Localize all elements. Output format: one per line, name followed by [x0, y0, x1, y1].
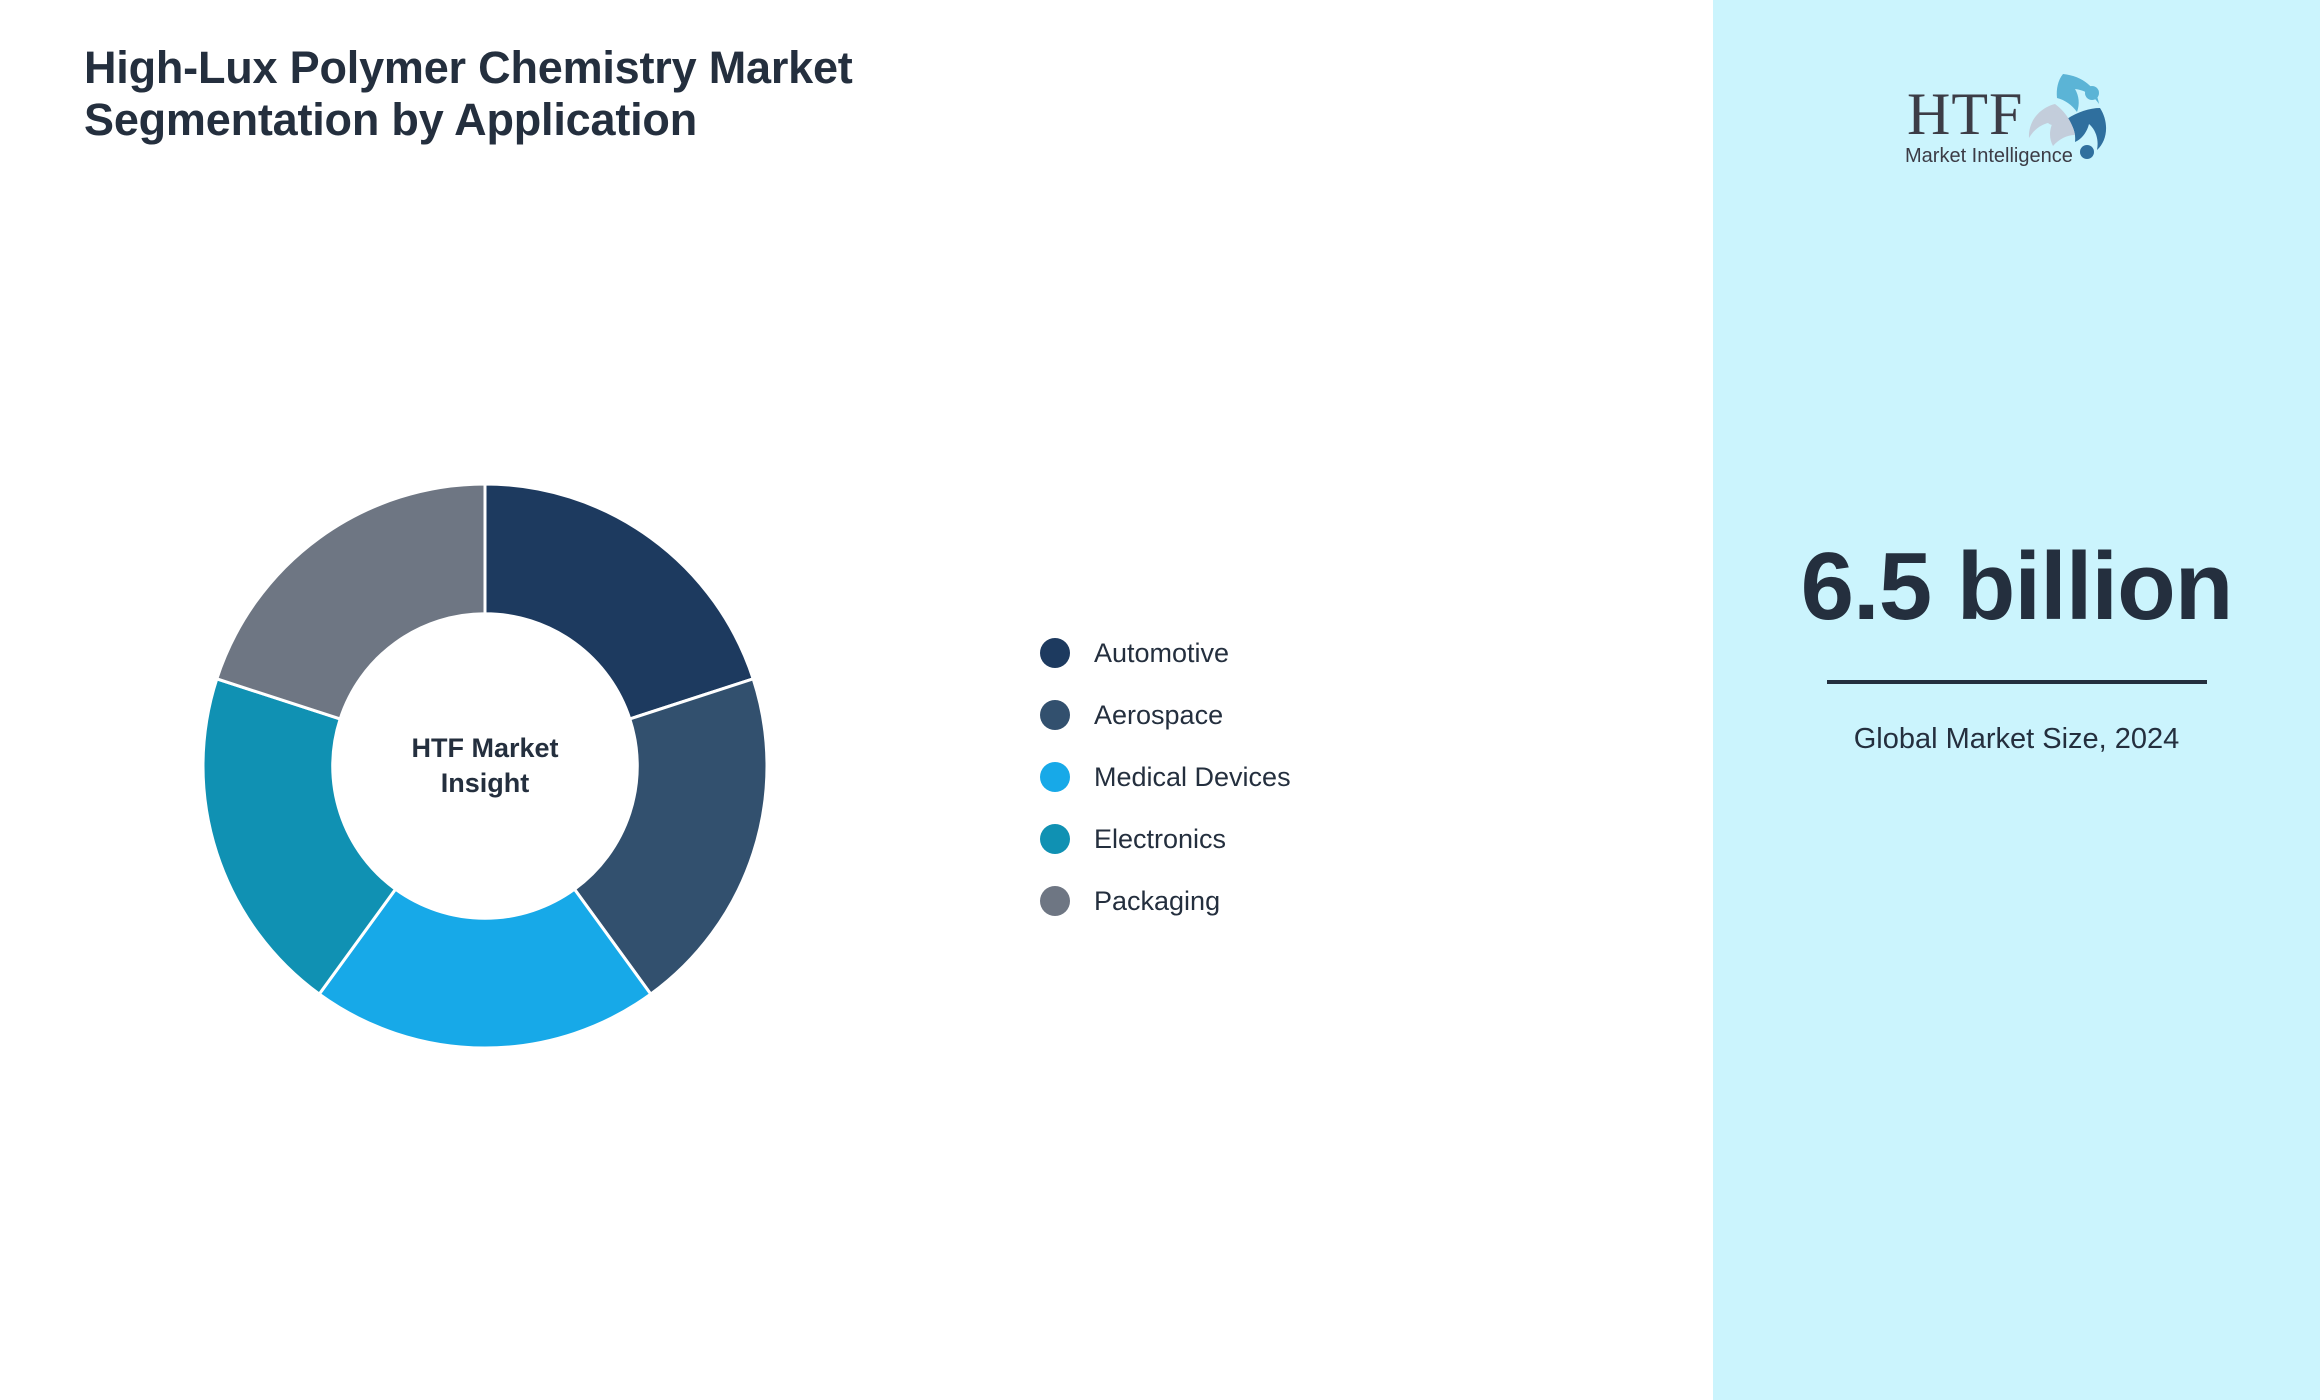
legend-swatch-icon	[1040, 700, 1070, 730]
legend-item[interactable]: Packaging	[1040, 870, 1291, 932]
htf-logo-svg: HTF Market Intelligence	[1887, 62, 2147, 172]
legend-item-label: Electronics	[1094, 824, 1226, 855]
legend-item-label: Packaging	[1094, 886, 1220, 917]
legend-item[interactable]: Electronics	[1040, 808, 1291, 870]
legend-swatch-icon	[1040, 886, 1070, 916]
htf-wordmark: HTF	[1907, 81, 2023, 147]
stat-value: 6.5 billion	[1777, 536, 2257, 638]
legend-item-label: Medical Devices	[1094, 762, 1291, 793]
htf-tagline: Market Intelligence	[1905, 145, 2073, 167]
legend-item[interactable]: Automotive	[1040, 622, 1291, 684]
legend-swatch-icon	[1040, 638, 1070, 668]
htf-logo: HTF Market Intelligence	[1887, 62, 2147, 172]
donut-chart-svg	[203, 484, 767, 1048]
donut-segment-packaging[interactable]	[217, 484, 485, 719]
donut-segment-group	[203, 484, 767, 1048]
stat-divider	[1827, 680, 2207, 684]
infographic-root: High-Lux Polymer Chemistry Market Segmen…	[0, 0, 2320, 1400]
legend-swatch-icon	[1040, 762, 1070, 792]
legend-swatch-icon	[1040, 824, 1070, 854]
stat-caption: Global Market Size, 2024	[1777, 720, 2257, 758]
legend-item[interactable]: Medical Devices	[1040, 746, 1291, 808]
legend-item-label: Automotive	[1094, 638, 1229, 669]
legend-item[interactable]: Aerospace	[1040, 684, 1291, 746]
stat-panel: HTF Market Intelligence 6.5 billion Glob…	[1713, 0, 2320, 1400]
legend-item-label: Aerospace	[1094, 700, 1223, 731]
donut-segment-automotive[interactable]	[485, 484, 753, 719]
chart-legend: AutomotiveAerospaceMedical DevicesElectr…	[1040, 622, 1291, 932]
stat-block: 6.5 billion Global Market Size, 2024	[1777, 536, 2257, 758]
page-title: High-Lux Polymer Chemistry Market Segmen…	[84, 42, 1034, 146]
donut-chart: HTF Market Insight	[203, 484, 767, 1048]
main-panel: High-Lux Polymer Chemistry Market Segmen…	[0, 0, 1713, 1400]
